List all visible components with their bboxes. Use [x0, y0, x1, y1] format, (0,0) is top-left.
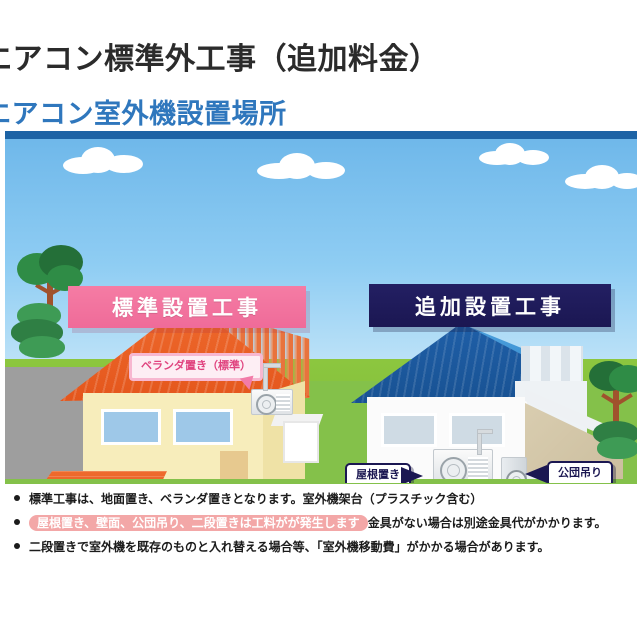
bullet-icon [14, 495, 20, 501]
window [173, 409, 233, 445]
note-text: 二段置きで室外機を既存のものと入れ替える場合等、「室外機移動費」がかかる場合があ… [29, 540, 549, 554]
outdoor-unit-veranda [251, 389, 293, 415]
window [381, 413, 437, 447]
callout-veranda-label: ベランダ置き（標準） [129, 353, 263, 381]
callout-pointer [525, 465, 547, 483]
callout-roof: 屋根置き [345, 463, 411, 483]
diagram-top-rule [5, 131, 637, 139]
pipe [477, 429, 493, 434]
pipe [263, 363, 281, 368]
callout-veranda: ベランダ置き（標準） [129, 353, 263, 381]
banner-standard-installation: 標準設置工事 [68, 286, 306, 328]
note-highlight: 屋根置き、壁面、公団吊り、二段置きは工料がが発生します [29, 515, 368, 531]
page-root: エアコン標準外工事（追加料金） エアコン室外機設置場所 [0, 0, 637, 637]
callout-hanging-label: 公団吊り [547, 461, 613, 483]
cloud-icon [479, 143, 549, 165]
note-text: 金具がない場合は別途金具代がかかります。 [368, 516, 607, 530]
notes-list: 標準工事は、地面置き、ベランダ置きとなります。室外機架台（プラスチック含む） 屋… [0, 487, 637, 559]
balcony-rail [283, 421, 319, 463]
outdoor-unit-roof [433, 449, 493, 483]
list-item: 二段置きで室外機を既存のものと入れ替える場合等、「室外機移動費」がかかる場合があ… [0, 535, 637, 559]
bush-icon [19, 336, 65, 358]
window [101, 409, 161, 445]
page-title: エアコン標準外工事（追加料金） [0, 34, 637, 78]
bullet-icon [14, 519, 20, 525]
cloud-icon [565, 165, 637, 189]
installation-diagram-image: 標準設置工事 追加設置工事 ベランダ置き（標準） 地面置き（標準） 屋根置き 壁… [5, 131, 637, 483]
bullet-icon [14, 543, 20, 549]
note-text: 標準工事は、地面置き、ベランダ置きとなります。室外機架台（プラスチック含む） [29, 492, 482, 506]
list-item: 屋根置き、壁面、公団吊り、二段置きは工料がが発生します金具がない場合は別途金具代… [0, 511, 637, 535]
page-subtitle: エアコン室外機設置場所 [0, 92, 637, 131]
callout-pointer [401, 467, 423, 483]
list-item: 標準工事は、地面置き、ベランダ置きとなります。室外機架台（プラスチック含む） [0, 487, 637, 511]
banner-additional-installation: 追加設置工事 [369, 284, 611, 327]
bush-icon [597, 437, 637, 459]
cloud-icon [63, 147, 143, 173]
callout-hanging: 公団吊り [547, 461, 613, 483]
cloud-icon [257, 153, 345, 179]
